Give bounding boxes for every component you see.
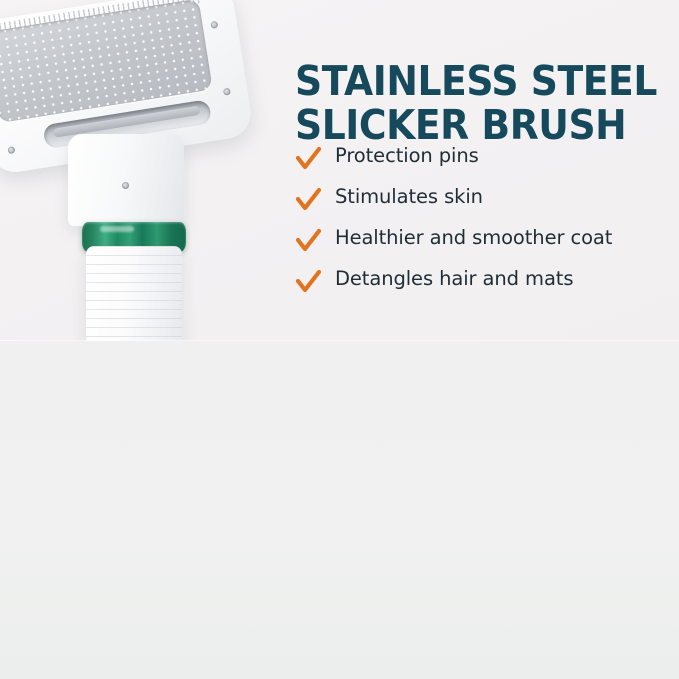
list-item-label: Detangles hair and mats — [323, 265, 573, 294]
page-title: STAINLESS STEEL SLICKER BRUSH — [295, 60, 663, 148]
screw-icon — [223, 88, 231, 96]
list-item: Protection pins — [293, 143, 679, 184]
list-item-label: Healthier and smoother coat — [323, 224, 612, 253]
list-item-label: Protection pins — [323, 142, 479, 171]
benefits-list: Protection pins Stimulates skin Healthie… — [293, 143, 679, 307]
slicker-brush-product-photo — [0, 0, 284, 356]
check-icon — [293, 144, 323, 174]
list-item: Detangles hair and mats — [293, 266, 679, 307]
list-item: Stimulates skin — [293, 184, 679, 225]
handle-neck — [68, 134, 184, 226]
check-icon — [293, 267, 323, 297]
list-item: Healthier and smoother coat — [293, 225, 679, 266]
top-panel: STAINLESS STEEL SLICKER BRUSH Protection… — [0, 0, 679, 341]
screw-icon — [210, 21, 218, 29]
list-item-label: Stimulates skin — [323, 183, 483, 212]
check-icon — [293, 226, 323, 256]
check-icon — [293, 185, 323, 215]
screw-icon — [7, 146, 15, 154]
infographic-page: STAINLESS STEEL SLICKER BRUSH Protection… — [0, 0, 679, 679]
bottom-panel: PERFECT FOR Medium to long fur Double or… — [0, 341, 679, 679]
screw-icon — [122, 182, 129, 189]
